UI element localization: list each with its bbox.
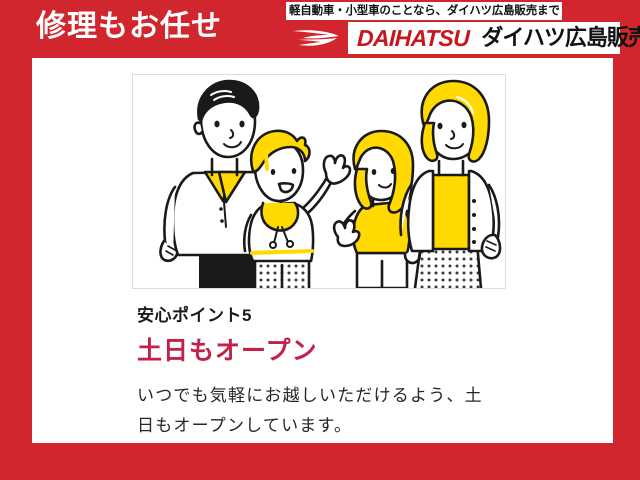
page-title: 修理もお任せ (36, 8, 222, 46)
header-bar: 修理もお任せ 軽自動車・小型車のことなら、ダイハツ広島販売まで DAIHATSU… (0, 0, 640, 58)
brand-jp-name: ダイハツ広島販売 (481, 27, 640, 49)
daihatsu-d-swoosh-icon (286, 22, 348, 54)
illustration-frame (132, 74, 506, 289)
brand-latin-name: DAIHATSU (357, 27, 470, 50)
brand-logo-bar: DAIHATSU ダイハツ広島販売 (286, 22, 620, 54)
brand-block: 軽自動車・小型車のことなら、ダイハツ広島販売まで DAIHATSU ダイハツ広島… (286, 2, 620, 56)
point-headline: 土日もオープン (137, 335, 537, 367)
poster-root: 修理もお任せ 軽自動車・小型車のことなら、ダイハツ広島販売まで DAIHATSU… (0, 0, 640, 480)
family-illustration (133, 75, 505, 288)
content-text-block: 安心ポイント5 土日もオープン いつでも気軽にお越しいただけるよう、土日もオープ… (137, 303, 537, 441)
point-body-text: いつでも気軽にお越しいただけるよう、土日もオープンしています。 (137, 381, 492, 441)
brand-tagline: 軽自動車・小型車のことなら、ダイハツ広島販売まで (286, 2, 562, 20)
content-panel: 安心ポイント5 土日もオープン いつでも気軽にお越しいただけるよう、土日もオープ… (32, 58, 613, 443)
point-label: 安心ポイント5 (137, 303, 537, 329)
